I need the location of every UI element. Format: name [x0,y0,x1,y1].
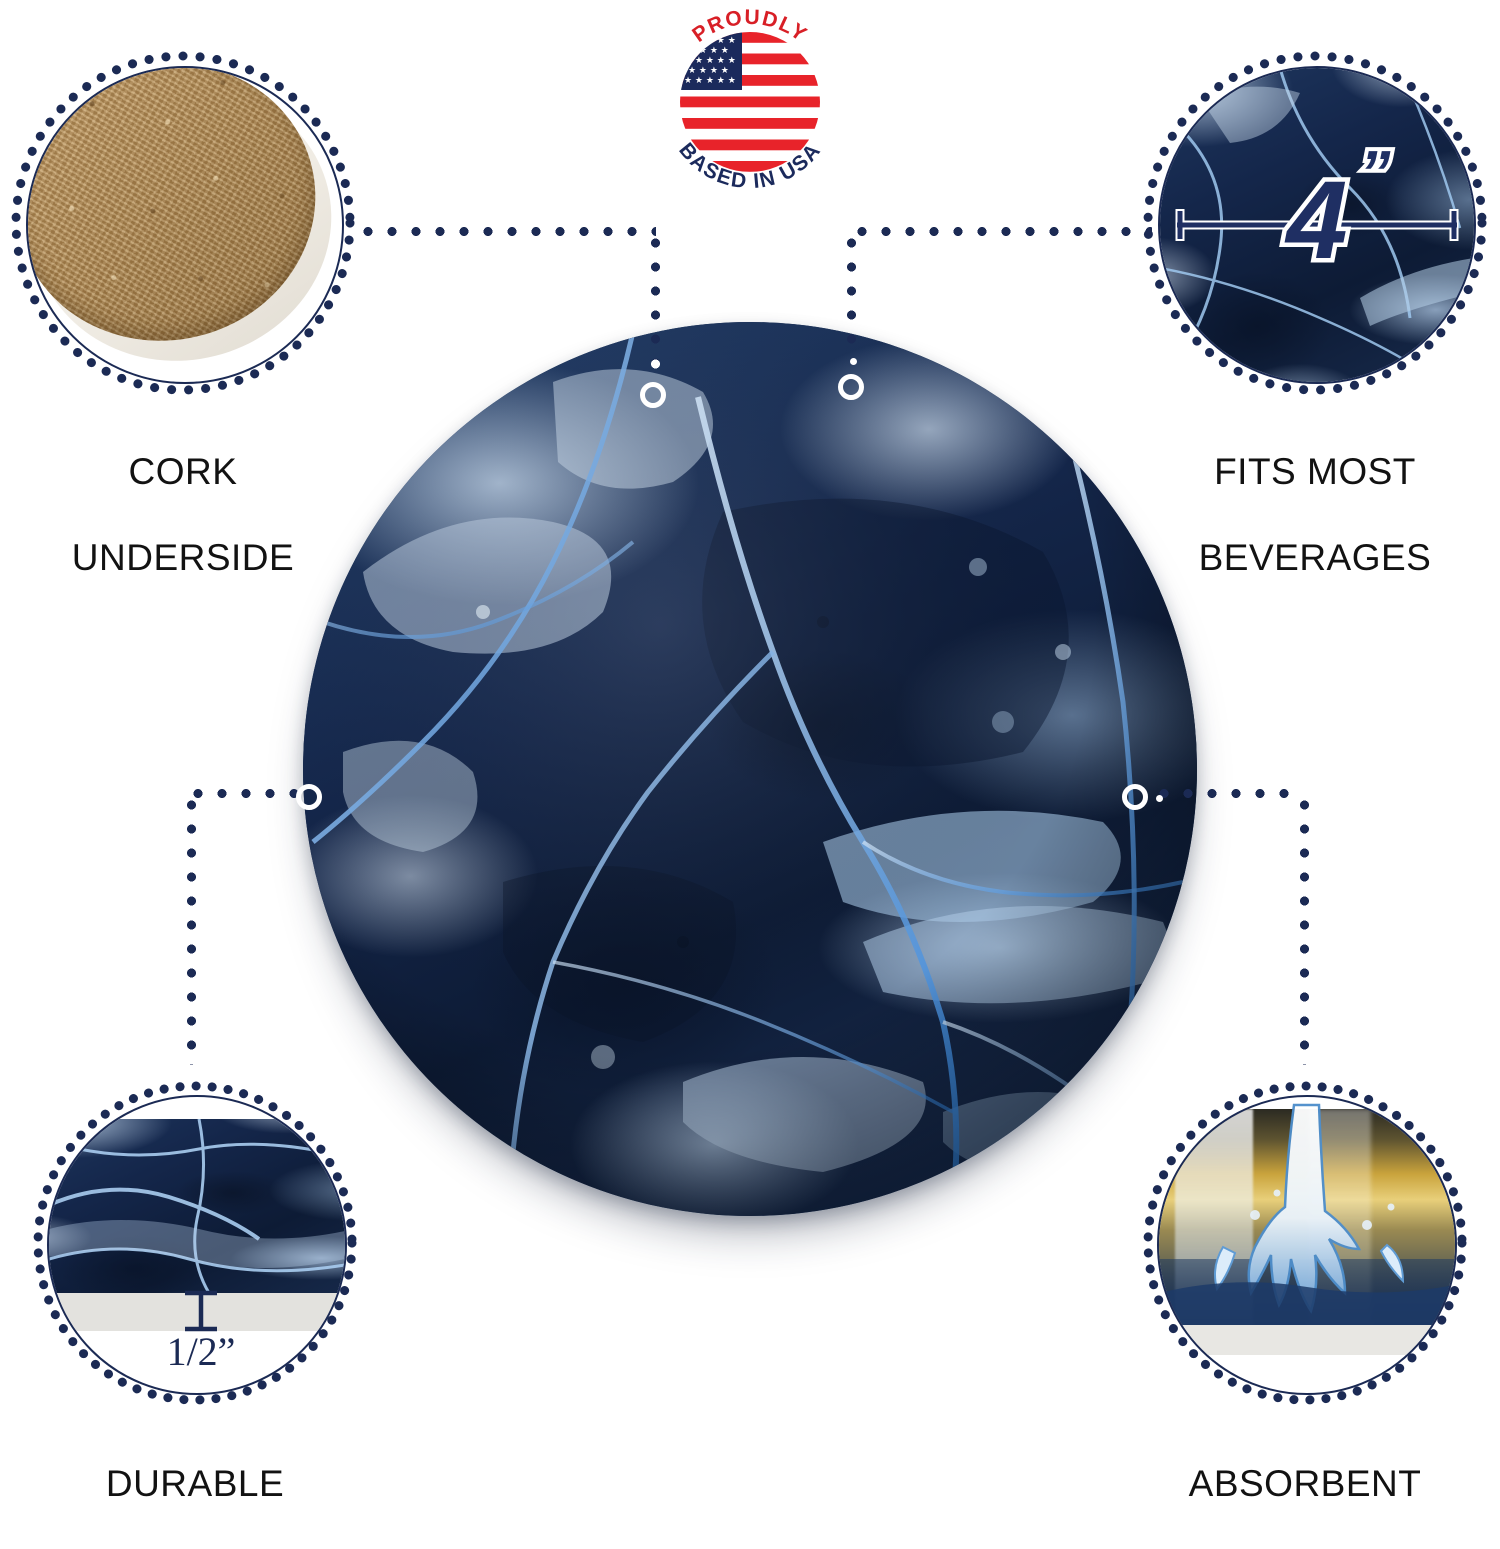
callout-absorbent: ABSORBENT [1140,1078,1470,1408]
callout-label-cork-line2: UNDERSIDE [13,537,353,580]
dimension-label-half-inch: 1/2” [167,1329,236,1374]
product-coaster [303,322,1197,1216]
dimension-value-4in: 4 [1284,159,1347,282]
dimension-unit-4in: ” [1360,139,1391,208]
svg-text:★ ★ ★ ★: ★ ★ ★ ★ [688,46,729,56]
dimension-half-inch: 1/2” [49,1097,345,1393]
callout-image-durable: 1/2” [47,1095,347,1395]
callout-label-durable: DURABLE [30,1420,360,1549]
callout-image-absorbent [1157,1095,1457,1395]
callout-cork-underside: CORK UNDERSIDE [8,48,358,398]
callout-image-beverages: 4 ” [1158,66,1476,384]
connector-node-durable [296,784,322,810]
callout-label-cork: CORK UNDERSIDE [13,408,353,623]
callout-label-beverages-line1: FITS MOST [1145,451,1485,494]
callout-label-beverages-line2: BEVERAGES [1145,537,1485,580]
svg-text:★ ★ ★ ★ ★: ★ ★ ★ ★ ★ [684,76,736,86]
dimension-bar-4in: 4 ” [1160,68,1474,382]
coaster-base-band [1159,1325,1455,1355]
callout-label-cork-line1: CORK [13,451,353,494]
svg-text:★ ★ ★ ★ ★: ★ ★ ★ ★ ★ [684,56,736,66]
connector-node-cork [640,382,666,408]
callout-label-durable-line1: DURABLE [30,1463,360,1506]
cork-layer [26,66,344,372]
marble-veins [303,322,1197,1216]
callout-label-absorbent-line1: ABSORBENT [1140,1463,1470,1506]
callout-label-beverages: FITS MOST BEVERAGES [1145,408,1485,623]
callout-fits-most-beverages: 4 ” FITS MOST BEVERAGES [1140,48,1490,398]
connector-node-beverages [838,374,864,400]
proudly-based-in-usa-badge: ★ ★ ★ ★ ★ ★ ★ ★ ★ ★ ★ ★ ★ ★ ★ ★ ★ ★ ★ ★ … [650,2,850,202]
callout-durable: 1/2” DURABLE [30,1078,360,1408]
connector-node-absorbent [1122,784,1148,810]
callout-label-absorbent: ABSORBENT [1140,1420,1470,1549]
svg-text:★ ★ ★ ★: ★ ★ ★ ★ [688,66,729,76]
callout-image-cork [26,66,344,384]
